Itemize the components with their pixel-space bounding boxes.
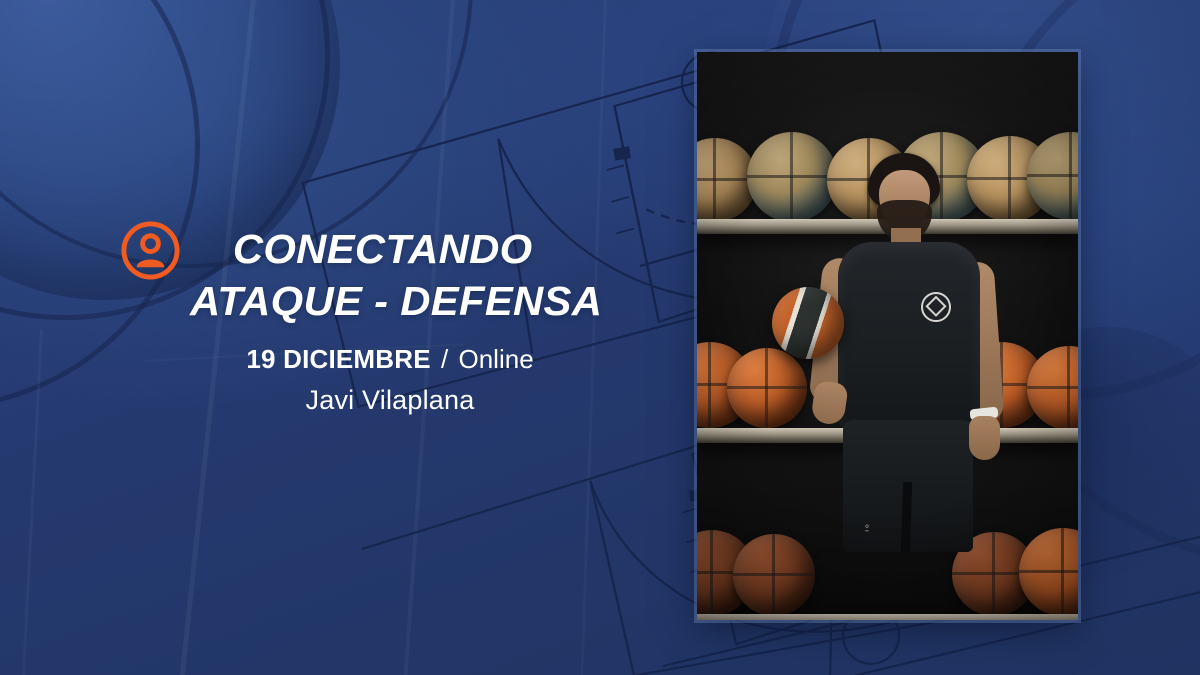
held-basketball [772,287,844,359]
speaker-photo: ⍛ [697,52,1078,620]
photo-content: ⍛ [697,52,1078,620]
headline-block: CONECTANDO ATAQUE - DEFENSA [190,224,710,327]
event-date: 19 DICIEMBRE [246,344,430,374]
under-armour-logo-icon: ⍛ [857,518,877,532]
coach-figure: ⍛ [697,52,1078,620]
headline-line-2: ATAQUE - DEFENSA [190,276,720,328]
detail-separator: / [438,344,451,374]
speaker-name: Javi Vilaplana [190,385,590,416]
right-hand [969,416,1000,460]
event-format: Online [459,344,534,374]
event-details-line: 19 DICIEMBRE / Online [190,344,590,375]
user-circle-icon [119,219,182,282]
t-shirt [838,242,980,430]
headline-line-1: CONECTANDO [190,224,720,276]
poster-canvas: CONECTANDO ATAQUE - DEFENSA 19 DICIEMBRE… [0,0,1200,675]
